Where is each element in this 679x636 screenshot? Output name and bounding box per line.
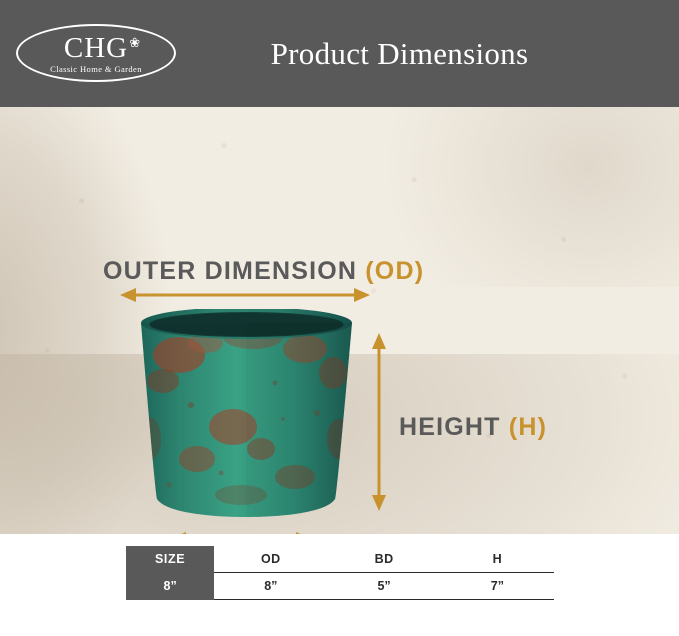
page-header: CHG ❀ Classic Home & Garden Product Dime… [0,0,679,107]
table-row: 8” 8” 5” 7” [126,573,554,600]
outer-dimension-label: OUTER DIMENSION (OD) [103,257,424,286]
dimension-diagram: OUTER DIMENSION (OD) [0,107,679,534]
outer-dimension-text: OUTER DIMENSION [103,257,365,285]
dimensions-table-area: SIZE OD BD H 8” 8” 5” 7” [0,534,679,636]
page-title: Product Dimensions [0,36,679,72]
table-cell-bd: 5” [327,573,440,600]
table-header-row: SIZE OD BD H [126,546,554,573]
table-cell-size: 8” [126,573,214,600]
table-header-h: H [441,546,554,573]
table-cell-h: 7” [441,573,554,600]
planter-pot-image [133,309,360,517]
outer-dimension-code: (OD) [365,257,424,285]
height-code: (H) [509,413,547,441]
height-label: HEIGHT (H) [399,413,547,442]
outer-dimension-arrow-icon [120,285,370,305]
table-header-bd: BD [327,546,440,573]
dimensions-table: SIZE OD BD H 8” 8” 5” 7” [126,546,554,600]
table-header-od: OD [214,546,327,573]
height-text: HEIGHT [399,413,509,441]
table-cell-od: 8” [214,573,327,600]
height-dimension-arrow-icon [369,333,389,511]
table-header-size: SIZE [126,546,214,573]
